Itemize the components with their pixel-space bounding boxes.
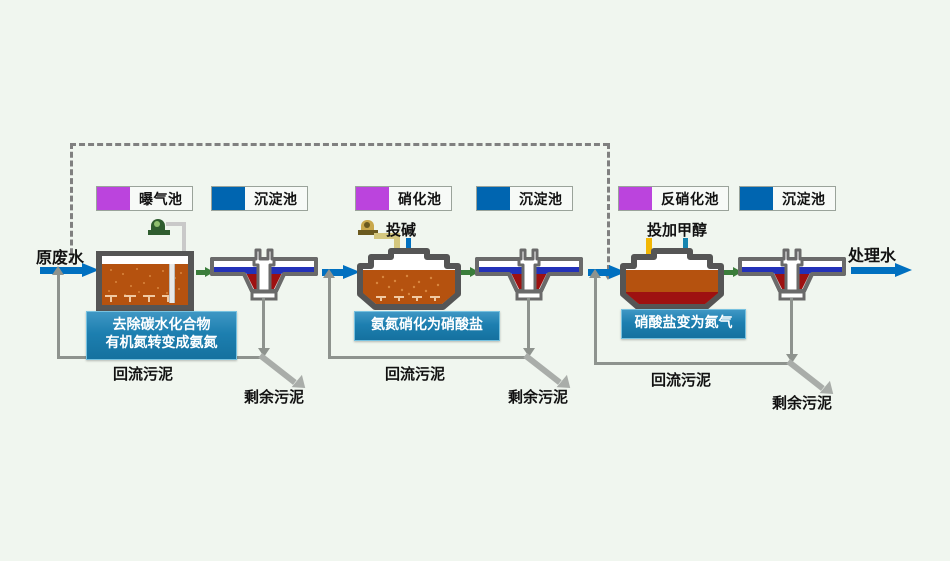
clarifier-1-underflow	[262, 298, 265, 354]
effluent-arrow	[851, 263, 913, 277]
recycle-line-right	[607, 143, 610, 271]
clarifier-2-underflow	[527, 298, 530, 354]
waste-sludge-arrow-1	[262, 353, 314, 389]
legend-nitrification-tank: 硝化池	[355, 186, 452, 211]
legend-label: 反硝化池	[652, 187, 728, 210]
aeration-tank	[96, 251, 194, 311]
legend-swatch	[356, 187, 389, 210]
return-sludge-label-1: 回流污泥	[113, 363, 173, 384]
return-sludge-arrowhead-3	[589, 269, 601, 278]
caption-stage-1: 去除碳水化合物 有机氮转变成氨氮	[86, 311, 237, 360]
return-sludge-line-3	[594, 362, 791, 365]
legend-settling-tank-3: 沉淀池	[739, 186, 836, 211]
denitrification-tank-graphic	[620, 248, 724, 310]
return-sludge-arrowhead-2	[323, 269, 335, 278]
recycle-line-top	[70, 143, 609, 146]
caption-stage-2: 氨氮硝化为硝酸盐	[354, 311, 500, 341]
return-sludge-riser-1	[57, 275, 60, 357]
caption-line: 去除碳水化合物	[96, 316, 227, 334]
legend-aeration-tank: 曝气池	[96, 186, 193, 211]
legend-swatch	[740, 187, 773, 210]
return-sludge-riser-2	[328, 278, 331, 358]
legend-swatch	[97, 187, 130, 210]
legend-label: 沉淀池	[773, 187, 835, 210]
caption-stage-3: 硝酸盐变为氮气	[621, 309, 746, 339]
legend-label: 硝化池	[389, 187, 451, 210]
waste-sludge-arrow-3	[790, 359, 842, 395]
nitrification-tank-graphic	[357, 248, 461, 310]
tank-liquid	[102, 264, 188, 305]
return-sludge-label-2: 回流污泥	[385, 363, 445, 384]
caption-line: 有机氮转变成氨氮	[96, 334, 227, 352]
caption-line: 硝酸盐变为氮气	[631, 314, 736, 332]
legend-settling-tank-2: 沉淀池	[476, 186, 573, 211]
legend-denitrification-tank: 反硝化池	[618, 186, 729, 211]
return-sludge-arrowhead-1	[52, 266, 64, 275]
alkali-dosing-label: 投碱	[386, 219, 416, 240]
legend-swatch	[212, 187, 245, 210]
legend-swatch	[477, 187, 510, 210]
legend-label: 曝气池	[130, 187, 192, 210]
waste-sludge-label-2: 剩余污泥	[508, 386, 568, 407]
return-sludge-line-2	[328, 356, 528, 359]
nitrification-tank	[357, 248, 461, 310]
caption-line: 氨氮硝化为硝酸盐	[364, 316, 490, 334]
waste-sludge-arrow-2	[527, 353, 579, 389]
waste-sludge-label-1: 剩余污泥	[244, 386, 304, 407]
legend-swatch	[619, 187, 652, 210]
legend-label: 沉淀池	[245, 187, 307, 210]
clarifier-3-underflow	[790, 298, 793, 360]
process-diagram: 曝气池 沉淀池 硝化池 沉淀池 反硝化池 沉淀池 原废水	[0, 0, 950, 561]
methanol-dosing-label: 投加甲醇	[647, 219, 707, 240]
legend-label: 沉淀池	[510, 187, 572, 210]
aeration-downcomer	[169, 264, 175, 303]
influent-arrow	[40, 263, 100, 277]
denitrification-tank	[620, 248, 724, 310]
return-sludge-riser-3	[594, 278, 597, 364]
legend-settling-tank-1: 沉淀池	[211, 186, 308, 211]
return-sludge-label-3: 回流污泥	[651, 369, 711, 390]
waste-sludge-label-3: 剩余污泥	[772, 392, 832, 413]
